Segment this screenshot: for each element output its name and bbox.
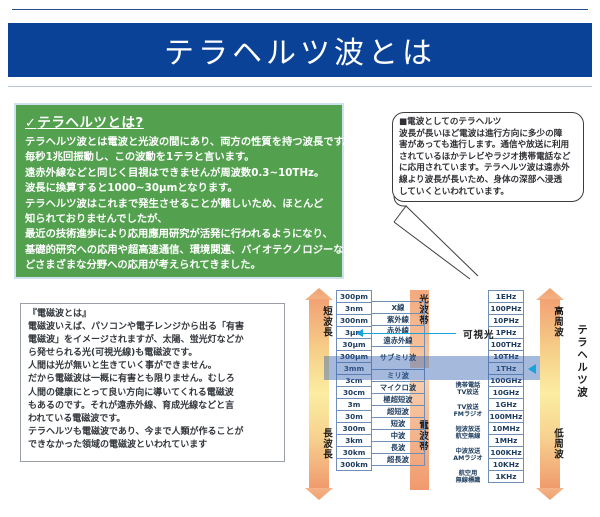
band-name-cell: マイクロ波 bbox=[372, 382, 425, 394]
callout-line: していくといわれています。 bbox=[399, 187, 578, 199]
band-name-cell: 短波 bbox=[372, 418, 425, 430]
green-panel-line: 毎秒1兆回振動し、この波動を1テラと言います。 bbox=[25, 150, 334, 165]
frequency-cell: 1GHz bbox=[489, 399, 524, 411]
band-name-cell: 極超短波 bbox=[372, 394, 425, 406]
info-box-heading: 『電磁波とは』 bbox=[28, 308, 279, 321]
terahertz-label: テラヘルツ波 bbox=[568, 324, 590, 399]
application-cell: 航空用 無線標識 bbox=[448, 466, 488, 488]
callout-line: 波長が長いほど電波は進行方向に多少の障 bbox=[399, 129, 578, 141]
callout-line: 線より波長が長いため、身体の深部へ浸透 bbox=[399, 175, 578, 187]
application-cell: 中波放送 AMラジオ bbox=[448, 444, 488, 466]
band-name-cell: 赤外線 遠赤外線 bbox=[372, 326, 425, 347]
band-name-cell: X線 bbox=[372, 302, 425, 314]
info-box-line: できなかった領域の電磁波といわれています bbox=[28, 439, 279, 452]
visible-light-label: 可視光 bbox=[463, 327, 495, 341]
wavelength-cell: 300pm bbox=[337, 291, 372, 303]
callout-line: 害があっても進行します。通信や放送に利用 bbox=[399, 140, 578, 152]
axis-label-high-frequency: 高周波 bbox=[536, 306, 564, 338]
green-panel-line: テラヘルツ波とは電波と光波の間にあり、両方の性質を持つ波長です。 bbox=[25, 135, 334, 150]
green-panel-line: 最近の技術進歩により応用應用研究が活発に行われるようになり、 bbox=[25, 227, 334, 242]
wavelength-cell: 30m bbox=[337, 411, 372, 423]
band-name-cell: 紫外線 bbox=[372, 314, 425, 326]
callout-line: されているほかテレビやラジオ携帯電話など bbox=[399, 152, 578, 164]
band-name-cell: 長波 bbox=[372, 442, 425, 454]
frequency-cell: 10GHz bbox=[489, 387, 524, 399]
frequency-cell: 100MHz bbox=[489, 411, 524, 423]
frequency-cell: 1EHz bbox=[489, 291, 524, 303]
frequency-cell: 1MHz bbox=[489, 435, 524, 447]
axis-label-short-wavelength: 短波長 bbox=[305, 306, 333, 338]
green-panel-heading-text: テラヘルツとは? bbox=[37, 115, 143, 131]
green-panel-line: 基礎的研究への応用や超高速通信、環境関連、バイオテクノロジーな bbox=[25, 243, 334, 258]
info-box-line: 人間は光が無いと生きていく事ができません。 bbox=[28, 360, 279, 373]
visible-light-leader-line bbox=[360, 333, 456, 334]
page-title: テラヘルツ波とは bbox=[164, 28, 436, 72]
info-box-line: 電磁波」をイメージされますが、太陽、蛍光灯などか bbox=[28, 334, 279, 347]
wavelength-column: 300pm 3nm 300nm 3μm 30μm 300μm 3mm 3cm 3… bbox=[336, 290, 372, 471]
wavelength-cell: 300nm bbox=[337, 315, 372, 327]
callout-heading: ■電波としてのテラヘルツ bbox=[399, 117, 578, 129]
info-box-line: だから電磁波は一概に有害とも限りません。むしろ bbox=[28, 373, 279, 386]
info-box-line: もあるのです。それが遠赤外線、育成光線などと言 bbox=[28, 400, 279, 413]
wavelength-cell: 30cm bbox=[337, 387, 372, 399]
wavelength-cell: 300m bbox=[337, 423, 372, 435]
wavelength-axis-arrow: 短波長 長波長 bbox=[305, 288, 333, 500]
radio-wave-callout: ■電波としてのテラヘルツ 波長が長いほど電波は進行方向に多少の障 害があっても進… bbox=[392, 112, 584, 202]
info-box-line: 人間の健康にとって良い方向に導いてくれる電磁波 bbox=[28, 387, 279, 400]
band-name-cell: 超長波 bbox=[372, 454, 425, 466]
axis-label-long-wavelength: 長波長 bbox=[305, 428, 333, 460]
callout-line: に応用されています。テラヘルツ波は遠赤外 bbox=[399, 163, 578, 175]
check-icon: ✓ bbox=[25, 116, 36, 131]
info-box-line: 電磁波いえば、パソコンや電子レンジから出る「有害 bbox=[28, 321, 279, 334]
header-underline bbox=[8, 86, 592, 87]
frequency-axis-arrow: 高周波 低周波 bbox=[536, 288, 564, 500]
top-divider bbox=[12, 9, 588, 10]
wavelength-cell: 30km bbox=[337, 447, 372, 459]
callout-tail-icon bbox=[392, 196, 512, 280]
arrow-head-down-icon bbox=[305, 488, 333, 500]
green-panel-line: 知られておりませんでしたが、 bbox=[25, 212, 334, 227]
application-column: 携帯電話 TV放送 TV放送 FMラジオ 短波放送 航空無線 中波放送 AMラジ… bbox=[448, 378, 488, 488]
application-cell: 短波放送 航空無線 bbox=[448, 422, 488, 444]
application-cell: TV放送 FMラジオ bbox=[448, 400, 488, 422]
terahertz-definition-panel: ✓テラヘルツとは? テラヘルツ波とは電波と光波の間にあり、両方の性質を持つ波長で… bbox=[14, 103, 344, 279]
info-box-line: われている電磁波です。 bbox=[28, 413, 279, 426]
frequency-cell: 10KHz bbox=[489, 459, 524, 471]
arrow-head-down-icon bbox=[536, 488, 564, 500]
info-box-line: ら発せられる光(可視光線)も電磁波です。 bbox=[28, 347, 279, 360]
green-panel-line: どさまざまな分野への応用が考えられてきました。 bbox=[25, 258, 334, 273]
green-panel-heading: ✓テラヘルツとは? bbox=[25, 111, 334, 131]
frequency-column: 1EHz 100PHz 10PHz 1PHz 100THz 10THz 1THz… bbox=[488, 290, 524, 483]
page-header: テラヘルツ波とは bbox=[8, 23, 592, 77]
green-panel-line: 遠赤外線などと同じく目視はできませんが周波数0.3~10THz。 bbox=[25, 166, 334, 181]
terahertz-highlight-band bbox=[324, 356, 548, 380]
axis-label-low-frequency: 低周波 bbox=[536, 428, 564, 460]
wavelength-cell: 3km bbox=[337, 435, 372, 447]
terahertz-arrow-icon bbox=[528, 364, 536, 374]
frequency-cell: 10MHz bbox=[489, 423, 524, 435]
wavelength-cell: 3m bbox=[337, 399, 372, 411]
info-box-line: テラヘルツも電磁波であり、今まで人類が作ることが bbox=[28, 426, 279, 439]
application-cell: 携帯電話 TV放送 bbox=[448, 378, 488, 400]
band-name-column: X線 紫外線 赤外線 遠赤外線 サブミリ波 ミリ波 マイクロ波 極超短波 超短波… bbox=[371, 301, 425, 466]
frequency-cell: 100PHz bbox=[489, 303, 524, 315]
wavelength-cell: 3nm bbox=[337, 303, 372, 315]
frequency-cell: 100KHz bbox=[489, 447, 524, 459]
band-name-cell: 超短波 bbox=[372, 406, 425, 418]
visible-light-arrow-icon bbox=[356, 329, 363, 337]
electromagnetic-spectrum-chart: 短波長 長波長 光波帯 電波帯 300pm 3nm 300nm 3μm 30μm… bbox=[300, 288, 596, 500]
electromagnetic-wave-info-box: 『電磁波とは』 電磁波いえば、パソコンや電子レンジから出る「有害 電磁波」をイメ… bbox=[20, 303, 285, 462]
green-panel-line: 波長に換算すると1000~30μmとなります。 bbox=[25, 181, 334, 196]
wavelength-cell: 30μm bbox=[337, 339, 372, 351]
green-panel-line: テラヘルツ波はこれまで発生させることが難しいため、ほとんど bbox=[25, 197, 334, 212]
frequency-cell: 1KHz bbox=[489, 471, 524, 483]
band-name-cell: 中波 bbox=[372, 430, 425, 442]
frequency-cell: 10PHz bbox=[489, 315, 524, 327]
wavelength-cell: 300km bbox=[337, 459, 372, 471]
